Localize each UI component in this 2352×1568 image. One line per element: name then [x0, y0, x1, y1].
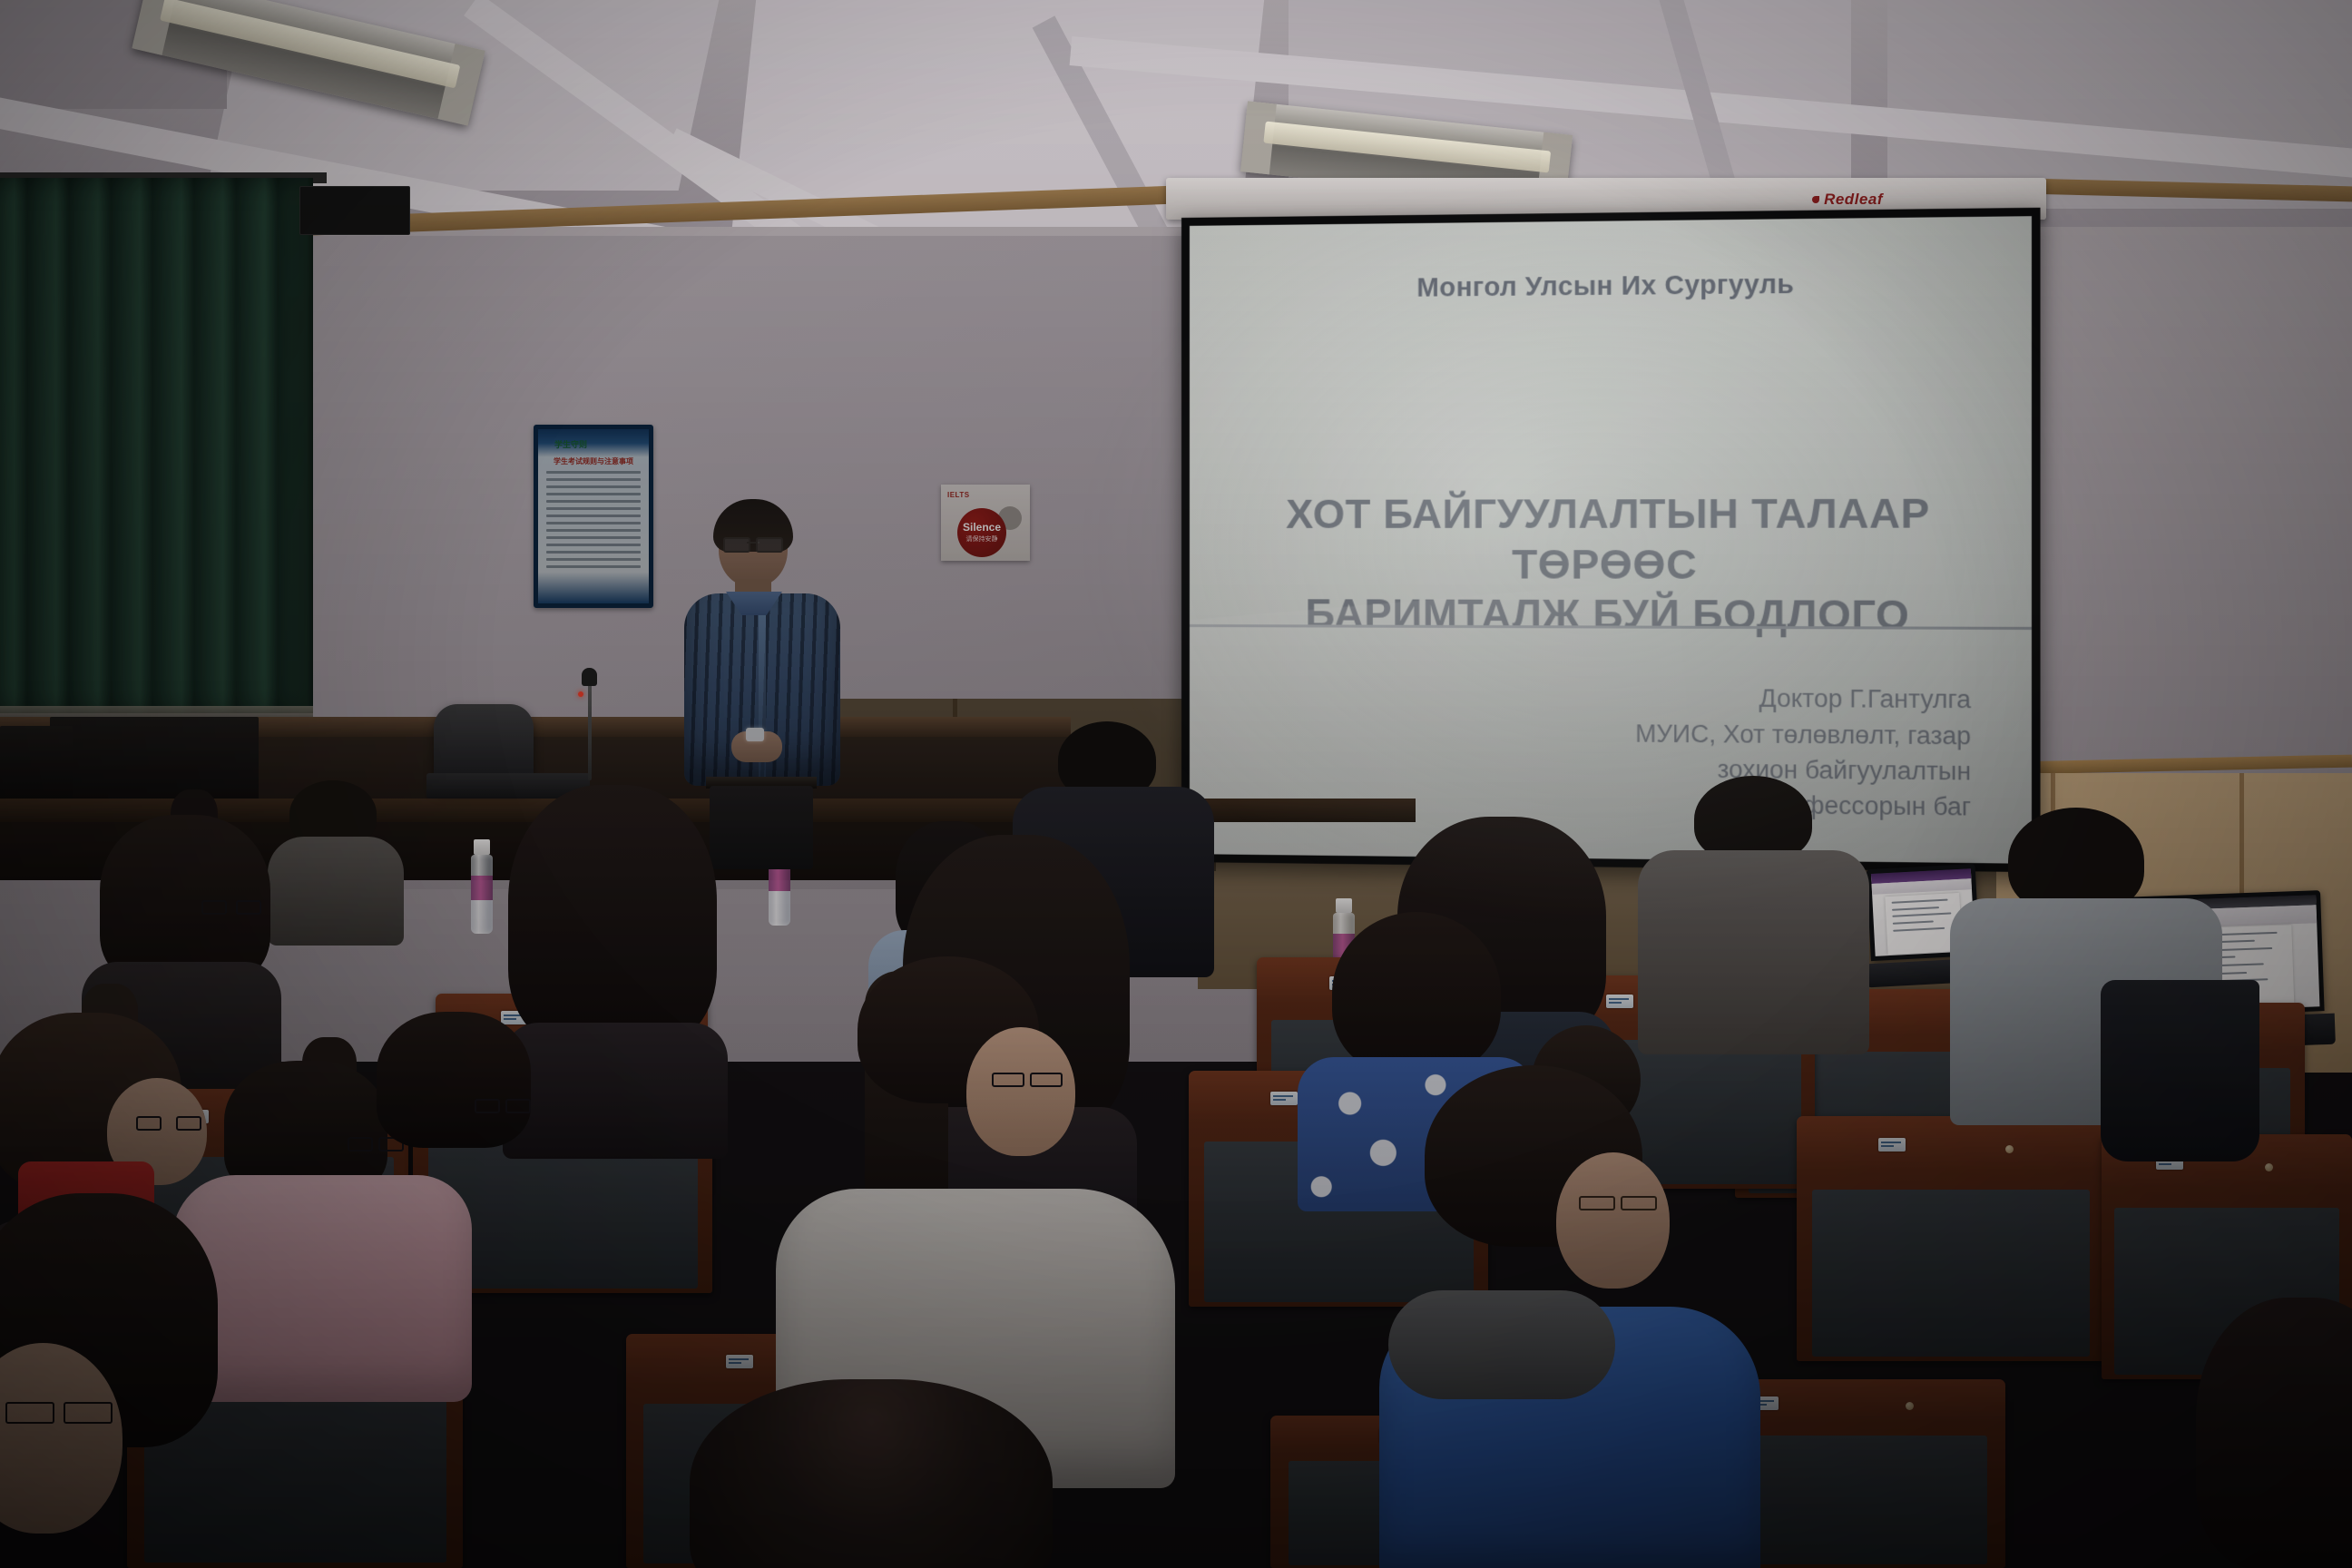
- face: [1556, 1152, 1670, 1289]
- notice-logo: 学生守则: [554, 438, 587, 450]
- presenter-trousers: [710, 786, 813, 869]
- water-bottle: [471, 839, 493, 934]
- microphone-led-indicator: [578, 691, 583, 697]
- hair: [508, 785, 717, 1048]
- silence-text-cn: 请保持安静: [966, 534, 998, 544]
- ielts-logo: IELTS: [947, 491, 970, 499]
- notice-board: 学生守则 学生考试规则与注意事项: [534, 425, 653, 608]
- silence-red-circle: Silence 请保持安静: [957, 508, 1006, 557]
- glasses-icon: [1579, 1196, 1657, 1207]
- microphone-stand: [588, 673, 592, 780]
- ceiling-speaker-box: [299, 186, 410, 235]
- notice-text-lines: [546, 471, 641, 573]
- silence-text-en: Silence: [963, 522, 1001, 533]
- notice-heading: 学生考试规则与注意事项: [547, 456, 640, 466]
- face: [966, 1027, 1075, 1156]
- seat[interactable]: [1797, 1116, 2105, 1361]
- glasses-icon: [136, 1116, 201, 1127]
- glasses-icon: [201, 900, 261, 911]
- presenter: [679, 505, 847, 867]
- hair: [690, 1379, 1053, 1568]
- hair: [377, 1012, 531, 1148]
- silence-sign: IELTS Silence 请保持安静: [941, 485, 1030, 561]
- neck-pillow: [1388, 1290, 1615, 1399]
- torso: [1638, 850, 1869, 1054]
- presentation-slide: Монгол Улсын Их Сургууль ХОТ БАЙГУУЛАЛТЫ…: [1190, 216, 2032, 864]
- slide-title: ХОТ БАЙГУУЛАЛТЫН ТАЛААР ТӨРӨӨС БАРИМТАЛЖ…: [1255, 488, 1962, 642]
- glasses-icon: [723, 537, 783, 549]
- hair: [1332, 912, 1501, 1075]
- lecture-hall-photo: Redleaf Монгол Улсын Их Сургууль ХОТ БАЙ…: [0, 0, 2352, 1568]
- desk-equipment-box: [0, 726, 73, 808]
- slide-title-line-1: ХОТ БАЙГУУЛАЛТЫН ТАЛААР ТӨРӨӨС: [1255, 488, 1962, 591]
- torso: [268, 837, 404, 946]
- screen-brand-label: Redleaf: [1824, 191, 1883, 209]
- draped-jacket: [2101, 980, 2259, 1161]
- stage-curtain: [0, 178, 313, 713]
- slide-author-aff-2: зохион байгуулалтын: [1445, 750, 1972, 789]
- slide-title-line-2: БАРИМТАЛЖ БУЙ БОДЛОГО: [1255, 590, 1962, 642]
- hair: [2196, 1298, 2352, 1568]
- projection-screen: Монгол Улсын Их Сургууль ХОТ БАЙГУУЛАЛТЫ…: [1181, 208, 2041, 872]
- slide-organization: Монгол Улсын Их Сургууль: [1190, 268, 2032, 306]
- microphone-head: [582, 668, 597, 686]
- slide-author-aff-1: МУИС, Хот төлөвлөлт, газар: [1445, 714, 1972, 753]
- presentation-clicker: [746, 728, 764, 741]
- glasses-icon: [5, 1402, 113, 1420]
- glasses-icon: [475, 1099, 531, 1110]
- glasses-icon: [992, 1073, 1063, 1083]
- torso: [503, 1023, 728, 1159]
- slide-author-name: Доктор Г.Гантулга: [1445, 680, 1972, 718]
